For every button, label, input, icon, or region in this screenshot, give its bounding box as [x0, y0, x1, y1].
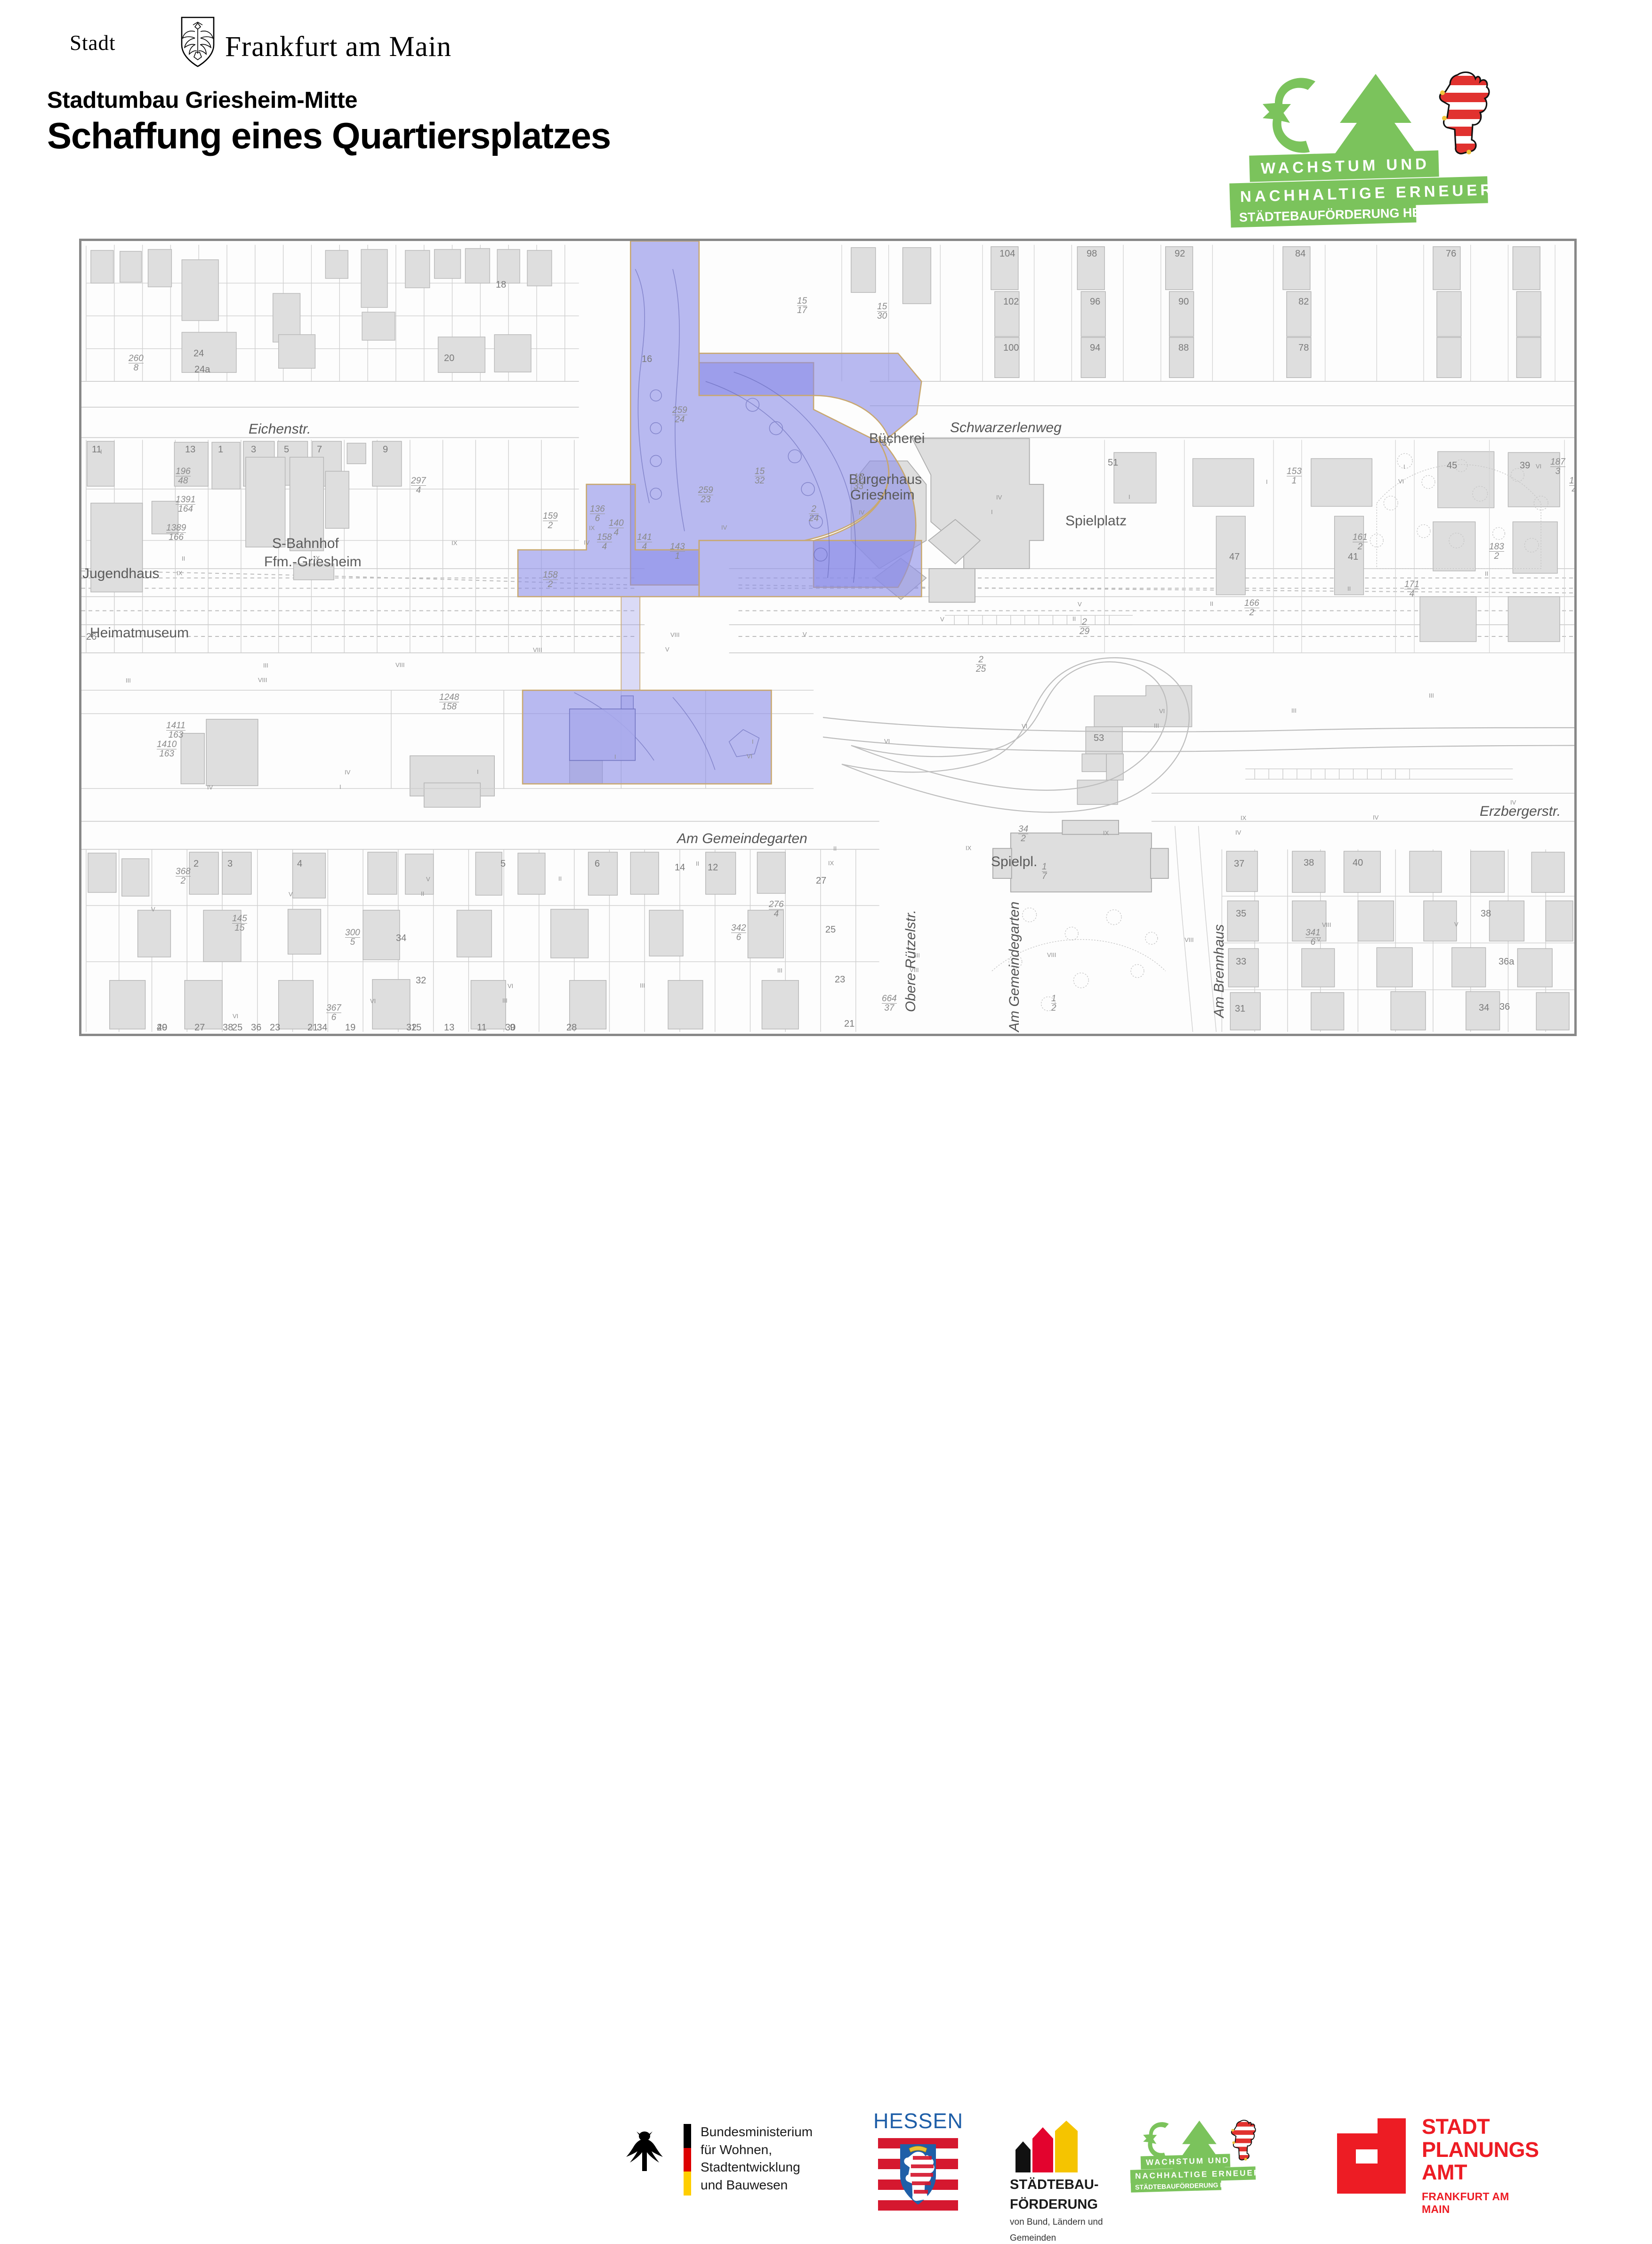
- hessen-flag-icon: [878, 2136, 958, 2212]
- map-vector-layer: [81, 241, 1574, 1034]
- logo-word-stadt: Stadt: [70, 31, 116, 55]
- page-header: Stadt Frankfurt am Main Stadt: [0, 0, 1652, 235]
- sbf-line4: Gemeinden: [1010, 2233, 1103, 2244]
- page-title: Schaffung eines Quartiersplatzes: [47, 114, 611, 157]
- bmwsb-line3: und Bauwesen: [701, 2176, 813, 2194]
- spa-line4: FRANKFURT AM MAIN: [1422, 2190, 1539, 2216]
- sbf-line3: von Bund, Ländern und: [1010, 2217, 1103, 2228]
- spa-line1: STADT: [1422, 2115, 1539, 2139]
- bundesadler-icon: [626, 2128, 663, 2173]
- frankfurt-eagle-crest-icon: [179, 16, 217, 68]
- wue-band-line1: WACHSTUM UND: [1249, 150, 1439, 182]
- page-subtitle: Stadtumbau Griesheim-Mitte: [47, 87, 357, 113]
- stadtplanungsamt-logo: STADT PLANUNGS AMT FRANKFURT AM MAIN: [1337, 2118, 1406, 2194]
- wachstum-erneuerung-logo: WACHSTUM UND NACHHALTIGE ERNEUERUNG STÄD…: [1233, 82, 1563, 219]
- bmwsb-text: Bundesministerium für Wohnen, Stadtentwi…: [701, 2123, 813, 2194]
- german-flag-bar-icon: [684, 2124, 691, 2196]
- bmwsb-line2: für Wohnen, Stadtentwicklung: [701, 2141, 813, 2176]
- logo-word-frankfurt: Frankfurt am Main: [225, 31, 451, 64]
- hessen-logo: HESSEN: [873, 2109, 963, 2212]
- stadtplanungsamt-mark-icon: [1337, 2118, 1406, 2194]
- spa-line2: PLANUNGS: [1422, 2139, 1539, 2162]
- cadastral-map[interactable]: Eichenstr. Schwarzerlenweg Am Gemeindega…: [79, 239, 1577, 1036]
- sbf-line1: STÄDTEBAU-: [1010, 2177, 1103, 2192]
- stadtplanungsamt-text: STADT PLANUNGS AMT FRANKFURT AM MAIN: [1422, 2115, 1539, 2216]
- bmwsb-line1: Bundesministerium: [701, 2123, 813, 2141]
- city-of-frankfurt-logo: Stadt Frankfurt am Main: [70, 26, 380, 71]
- spa-line3: AMT: [1422, 2161, 1539, 2184]
- three-houses-icon: [1010, 2121, 1080, 2172]
- funding-logo-bar: Bundesministerium für Wohnen, Stadtentwi…: [0, 1050, 1652, 1167]
- staedtebaufoerderung-logo: STÄDTEBAU- FÖRDERUNG von Bund, Ländern u…: [1010, 2121, 1103, 2244]
- hessen-wordmark: HESSEN: [873, 2109, 963, 2133]
- wue-small-band-line3: STÄDTEBAUFÖRDERUNG HESSEN: [1131, 2180, 1222, 2192]
- wachstum-erneuerung-logo-small: WACHSTUM UND NACHHALTIGE ERNEUERUNG STÄD…: [1132, 2122, 1273, 2207]
- sbf-line2: FÖRDERUNG: [1010, 2197, 1103, 2212]
- hessen-lion-icon: [1225, 2118, 1258, 2165]
